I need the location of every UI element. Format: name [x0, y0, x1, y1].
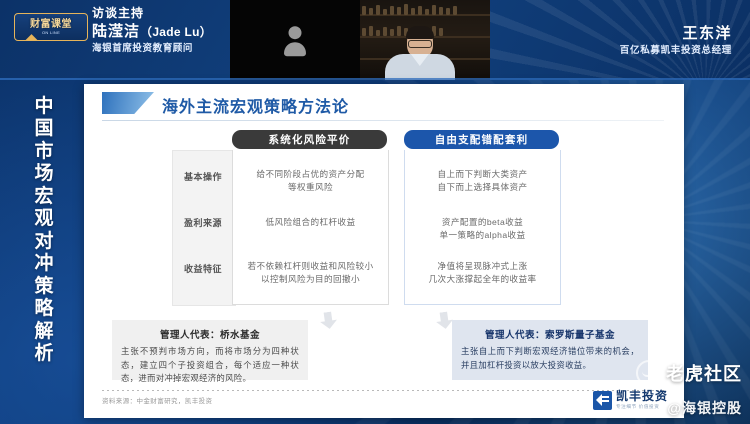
brand-logo-sub: ON LINE	[30, 30, 72, 35]
cell-right-return-profile: 净值将呈现脉冲式上涨 几次大涨撑起全年的收益率	[405, 260, 560, 287]
host-name-cn: 陆滢洁	[92, 23, 140, 40]
row-label-profit-source: 盈利来源	[172, 216, 234, 229]
vtitle-char: 冲	[34, 253, 53, 274]
note-heading-left: 管理人代表：桥水基金	[121, 327, 299, 341]
guest-info: 王东洋 百亿私募凯丰投资总经理	[620, 24, 732, 58]
sponsor-logo-name: 凯丰投资	[616, 390, 668, 402]
tiger-logo-icon	[636, 360, 662, 386]
brand-logo-text: 财富课堂	[30, 20, 72, 30]
host-name-en: （Jade Lu）	[140, 25, 212, 39]
watermark-tiger-community: 老虎社区	[636, 360, 742, 386]
brand-logo: 财富课堂 ON LINE	[14, 13, 88, 41]
user-avatar-icon	[282, 26, 308, 56]
guest-name: 王东洋	[620, 24, 732, 44]
participant-tile-speaker[interactable]	[360, 0, 490, 80]
vertical-program-title: 中 国 市 场 宏 观 对 冲 策 略 解 析	[24, 96, 64, 396]
vtitle-char: 策	[34, 276, 53, 297]
source-note: 资料来源：中金财富研究，凯丰投资	[102, 395, 212, 405]
header-band: 财富课堂 ON LINE 访谈主持 陆滢洁（Jade Lu） 海银首席投资教育顾…	[0, 0, 750, 80]
slide-accent-shape	[102, 92, 154, 114]
cell-right-profit-source: 资产配置的beta收益 单一策略的alpha收益	[405, 216, 560, 243]
vtitle-char: 观	[34, 208, 53, 229]
row-label-basic-operation: 基本操作	[172, 170, 234, 183]
footer-dotted-divider	[102, 390, 664, 391]
slide-title-rule	[102, 120, 664, 121]
note-heading-right: 管理人代表：索罗斯量子基金	[461, 327, 639, 341]
vtitle-char: 市	[34, 141, 53, 162]
cell-left-profit-source: 低风险组合的杠杆收益	[233, 216, 388, 229]
vtitle-char: 解	[34, 321, 53, 342]
note-body-right: 主张自上而下判断宏观经济错位带来的机会，并且加杠杆投资以放大投资收益。	[461, 345, 639, 372]
note-body-left: 主张不预判市场方向，而将市场分为四种状态，建立四个子投资组合，每个适应一种状态，…	[121, 345, 299, 386]
vtitle-char: 略	[34, 298, 53, 319]
cell-left-return-profile: 若不依赖杠杆则收益和风险较小 以控制风险为目的回撤小	[233, 260, 388, 287]
cell-left-basic-operation: 给不同阶段占优的资产分配 等权重风险	[233, 168, 388, 195]
row-label-return-profile: 收益特征	[172, 262, 234, 275]
cell-right-basic-operation: 自上而下判断大类资产 自下而上选择具体资产	[405, 168, 560, 195]
column-body-left: 给不同阶段占优的资产分配 等权重风险 低风险组合的杠杆收益 若不依赖杠杆则收益和…	[232, 150, 389, 305]
vtitle-char: 中	[34, 96, 53, 117]
host-role: 访谈主持	[92, 6, 212, 22]
vtitle-char: 对	[34, 231, 53, 252]
header-divider	[0, 78, 750, 80]
speaker-figure	[383, 28, 457, 80]
down-arrow-icon	[319, 311, 338, 330]
webinar-screen: 财富课堂 ON LINE 访谈主持 陆滢洁（Jade Lu） 海银首席投资教育顾…	[0, 0, 750, 424]
host-title: 海银首席投资教育顾问	[92, 42, 212, 55]
vtitle-char: 析	[34, 343, 53, 364]
sponsor-logo-sub: 专注细节 价值投资	[616, 404, 668, 410]
presentation-slide[interactable]: 海外主流宏观策略方法论 系统化风险平价 自由支配错配套利 基本操作 盈利来源 收…	[84, 84, 684, 418]
camera-feed	[360, 0, 490, 80]
watermark-tiger-label: 老虎社区	[666, 360, 742, 386]
host-info: 访谈主持 陆滢洁（Jade Lu） 海银首席投资教育顾问	[92, 6, 212, 55]
note-box-right: 管理人代表：索罗斯量子基金 主张自上而下判断宏观经济错位带来的机会，并且加杠杆投…	[452, 320, 648, 380]
slide-title: 海外主流宏观策略方法论	[162, 93, 349, 117]
sponsor-logo: 凯丰投资 专注细节 价值投资	[593, 390, 668, 410]
watermark-haiyin: @海银控股	[667, 398, 742, 418]
column-body-right: 自上而下判断大类资产 自下而上选择具体资产 资产配置的beta收益 单一策略的a…	[404, 150, 561, 305]
vtitle-char: 场	[34, 163, 53, 184]
note-box-left: 管理人代表：桥水基金 主张不预判市场方向，而将市场分为四种状态，建立四个子投资组…	[112, 320, 308, 380]
comparison-matrix: 基本操作 盈利来源 收益特征 给不同阶段占优的资产分配 等权重风险 低风险组合的…	[172, 144, 572, 304]
kf-mark-icon	[593, 391, 612, 410]
vtitle-char: 国	[34, 118, 53, 139]
participant-tile-placeholder[interactable]	[230, 0, 360, 80]
guest-title: 百亿私募凯丰投资总经理	[620, 44, 732, 57]
vtitle-char: 宏	[34, 186, 53, 207]
host-name: 陆滢洁（Jade Lu）	[92, 22, 212, 42]
